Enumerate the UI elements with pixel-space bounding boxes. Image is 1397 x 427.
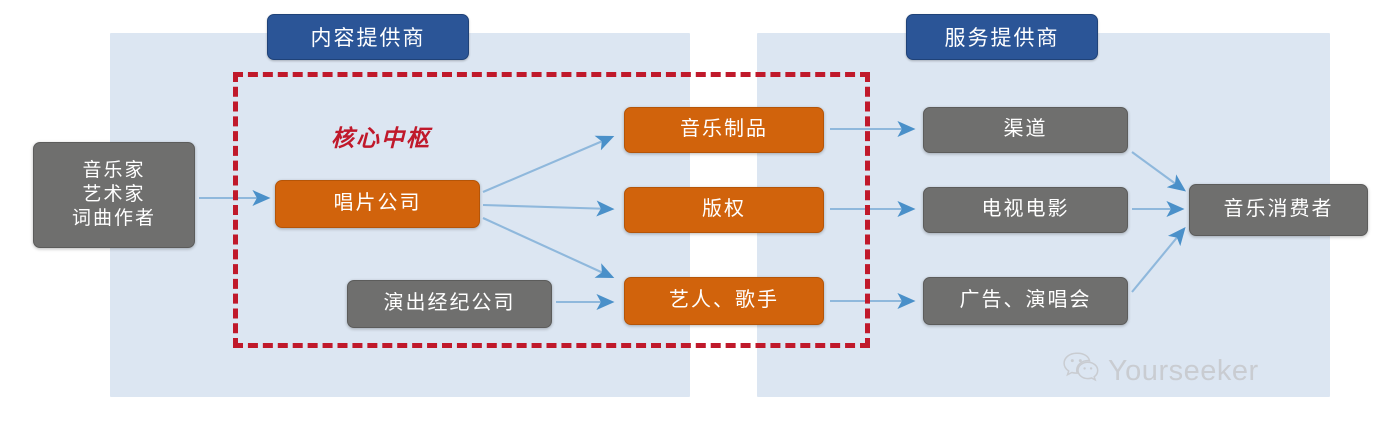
node-record-company: 唱片公司 <box>275 180 480 228</box>
core-hub-annotation: 核心中枢 <box>331 119 431 153</box>
diagram-canvas: 内容提供商 服务提供商 核心中枢 音乐家 艺术家 词曲作者 唱片公司 演出经纪公… <box>0 0 1397 427</box>
watermark-text: Yourseeker <box>1108 355 1259 388</box>
node-creators-line-1: 音乐家 <box>82 159 145 183</box>
header-service-provider-label: 服务提供商 <box>945 22 1060 52</box>
node-ads-concerts: 广告、演唱会 <box>923 277 1128 325</box>
node-channel: 渠道 <box>923 107 1128 153</box>
header-content-provider: 内容提供商 <box>267 14 469 60</box>
node-performance-agency: 演出经纪公司 <box>347 280 552 328</box>
node-tv-film: 电视电影 <box>923 187 1128 233</box>
node-creators: 音乐家 艺术家 词曲作者 <box>33 142 195 248</box>
node-artists-singers: 艺人、歌手 <box>624 277 824 325</box>
node-creators-line-3: 词曲作者 <box>72 207 156 231</box>
watermark: Yourseeker <box>1063 352 1259 390</box>
header-service-provider: 服务提供商 <box>906 14 1098 60</box>
node-music-consumers: 音乐消费者 <box>1189 184 1368 236</box>
header-content-provider-label: 内容提供商 <box>311 22 426 52</box>
wechat-icon <box>1063 352 1099 390</box>
node-music-products: 音乐制品 <box>624 107 824 153</box>
node-creators-line-2: 艺术家 <box>82 183 145 207</box>
node-copyright: 版权 <box>624 187 824 233</box>
